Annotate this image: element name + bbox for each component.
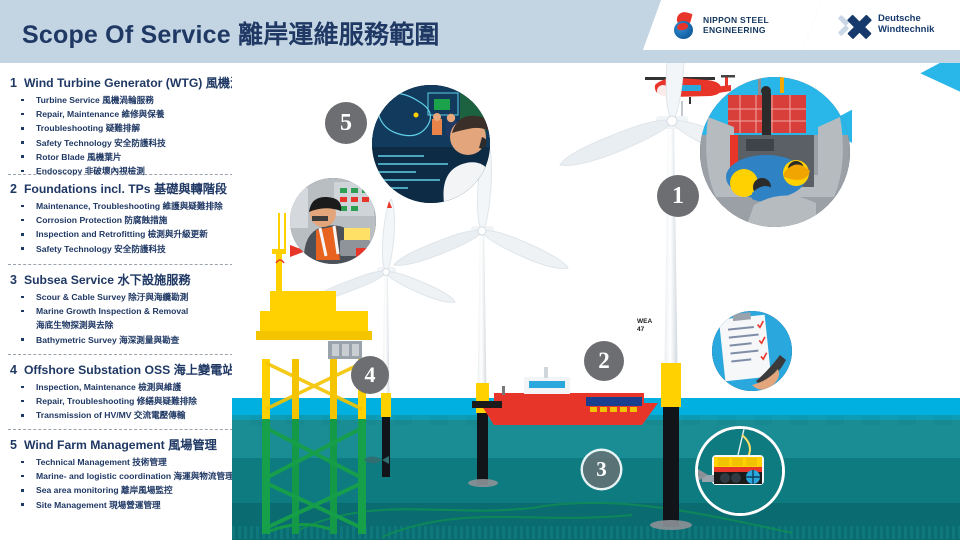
section-wind-turbine-generator: 1 Wind Turbine Generator (WTG) 風機渦輪 Turb… (0, 73, 250, 178)
section-2-number: 2 (10, 182, 17, 196)
section-separator-3 (8, 264, 238, 265)
section-4-number: 4 (10, 363, 17, 377)
section-3-title: Subsea Service 水下設施服務 (24, 270, 191, 288)
badge-2: 2 (584, 341, 624, 381)
section-separator-5 (8, 429, 238, 430)
section-2-title: Foundations incl. TPs 基礎與轉階段 (24, 179, 227, 197)
section-5-number: 5 (10, 438, 17, 452)
section-1-title: Wind Turbine Generator (WTG) 風機渦輪 (24, 73, 255, 91)
turbine-id-line1: WEA (637, 318, 652, 326)
list-item: Scour & Cable Survey 除汙與海纜勘測 (0, 290, 250, 304)
list-item: Bathymetric Survey 海深測量與勘查 (0, 333, 250, 347)
nippon-steel-flame-icon (672, 12, 697, 39)
nippon-steel-line1: NIPPON STEEL (703, 15, 769, 25)
scour-protection-mid (468, 479, 498, 487)
service-vessel (472, 363, 682, 433)
list-item: Technical Management 技術管理 (0, 455, 250, 469)
offshore-wind-farm-illustration: WEA 47 (232, 63, 960, 540)
list-item-continuation: 海底生物探測與去除 (0, 318, 250, 332)
list-item: Inspection and Retrofitting 檢測與升級更新 (0, 227, 250, 241)
badge-5: 5 (325, 102, 367, 144)
section-foundations: 2 Foundations incl. TPs 基礎與轉階段 Maintenan… (0, 179, 250, 256)
photo-rov (698, 429, 782, 513)
nippon-steel-wordmark: NIPPON STEEL ENGINEERING (703, 15, 769, 35)
list-item: Marine Growth Inspection & Removal (0, 304, 250, 318)
section-1-heading: 1 Wind Turbine Generator (WTG) 風機渦輪 (0, 73, 250, 91)
section-5-title: Wind Farm Management 風場管理 (24, 435, 217, 453)
section-1-number: 1 (10, 76, 17, 90)
section-3-number: 3 (10, 273, 17, 287)
nippon-steel-line2: ENGINEERING (703, 25, 769, 35)
page-title: Scope Of Service 離岸運維服務範圍 (22, 15, 440, 51)
list-item: Rotor Blade 風機葉片 (0, 150, 250, 164)
section-5-heading: 5 Wind Farm Management 風場管理 (0, 435, 250, 453)
slide-canvas: Scope Of Service 離岸運維服務範圍 NIPPON STEEL E… (0, 0, 960, 540)
list-item: Site Management 現場營運管理 (0, 498, 250, 512)
list-item: Corrosion Protection 防腐蝕措施 (0, 213, 250, 227)
section-offshore-substation: 4 Offshore Substation OSS 海上變電站 Inspecti… (0, 360, 250, 423)
photo-nacelle-interior (700, 77, 850, 227)
list-item: Maintenance, Troubleshooting 維護與疑難排除 (0, 199, 250, 213)
photo-control-room (372, 85, 490, 203)
section-separator-2 (8, 174, 238, 175)
section-1-bullets: Turbine Service 風機渦輪服務 Repair, Maintenan… (0, 93, 250, 178)
turbine-id-line2: 47 (637, 326, 652, 334)
fish-icon (362, 453, 392, 467)
section-2-bullets: Maintenance, Troubleshooting 維護與疑難排除 Cor… (0, 199, 250, 256)
list-item: Turbine Service 風機渦輪服務 (0, 93, 250, 107)
logo-group: NIPPON STEEL ENGINEERING Deutsche Windte… (630, 0, 960, 63)
list-item: Sea area monitoring 離岸風場監控 (0, 483, 250, 497)
list-item: Inspection, Maintenance 檢測與維護 (0, 380, 250, 394)
list-item: Repair, Maintenance 維修與保養 (0, 107, 250, 121)
section-4-title: Offshore Substation OSS 海上變電站 (24, 360, 235, 378)
logo-nippon-steel-engineering: NIPPON STEEL ENGINEERING (672, 0, 769, 50)
list-item: Endoscopy 非破壞內視檢測 (0, 164, 250, 178)
section-subsea-service: 3 Subsea Service 水下設施服務 Scour & Cable Su… (0, 270, 250, 347)
list-item: Safety Technology 安全防護科技 (0, 242, 250, 256)
list-item: Troubleshooting 疑難排解 (0, 121, 250, 135)
deutsche-windtechnik-wordmark: Deutsche Windtechnik (878, 14, 934, 36)
section-5-bullets: Technical Management 技術管理 Marine- and lo… (0, 455, 250, 512)
logo-deutsche-windtechnik: Deutsche Windtechnik (838, 0, 934, 50)
section-4-heading: 4 Offshore Substation OSS 海上變電站 (0, 360, 250, 378)
list-item: Safety Technology 安全防護科技 (0, 136, 250, 150)
scour-protection-right (650, 520, 692, 530)
section-2-heading: 2 Foundations incl. TPs 基礎與轉階段 (0, 179, 250, 197)
deutsche-windtechnik-x-icon (838, 12, 872, 38)
turbine-id-label: WEA 47 (637, 318, 652, 333)
section-separator-4 (8, 354, 238, 355)
section-4-bullets: Inspection, Maintenance 檢測與維護 Repair, Tr… (0, 380, 250, 423)
list-item: Transmission of HV/MV 交流電壓傳輸 (0, 408, 250, 422)
list-item: Repair, Troubleshooting 修繕與疑難排除 (0, 394, 250, 408)
photo-technician-diagnostics (290, 178, 376, 264)
deutsche-line2: Windtechnik (878, 25, 934, 36)
badge-4: 4 (351, 356, 389, 394)
badge-3: 3 (583, 451, 620, 488)
photo-inspection-checklist (712, 311, 792, 391)
section-wind-farm-management: 5 Wind Farm Management 風場管理 Technical Ma… (0, 435, 250, 512)
badge-1: 1 (657, 175, 699, 217)
list-item: Marine- and logistic coordination 海運與物流管… (0, 469, 250, 483)
service-scope-list: 1 Wind Turbine Generator (WTG) 風機渦輪 Turb… (0, 63, 250, 540)
section-3-heading: 3 Subsea Service 水下設施服務 (0, 270, 250, 288)
section-3-bullets: Scour & Cable Survey 除汙與海纜勘測 Marine Grow… (0, 290, 250, 347)
